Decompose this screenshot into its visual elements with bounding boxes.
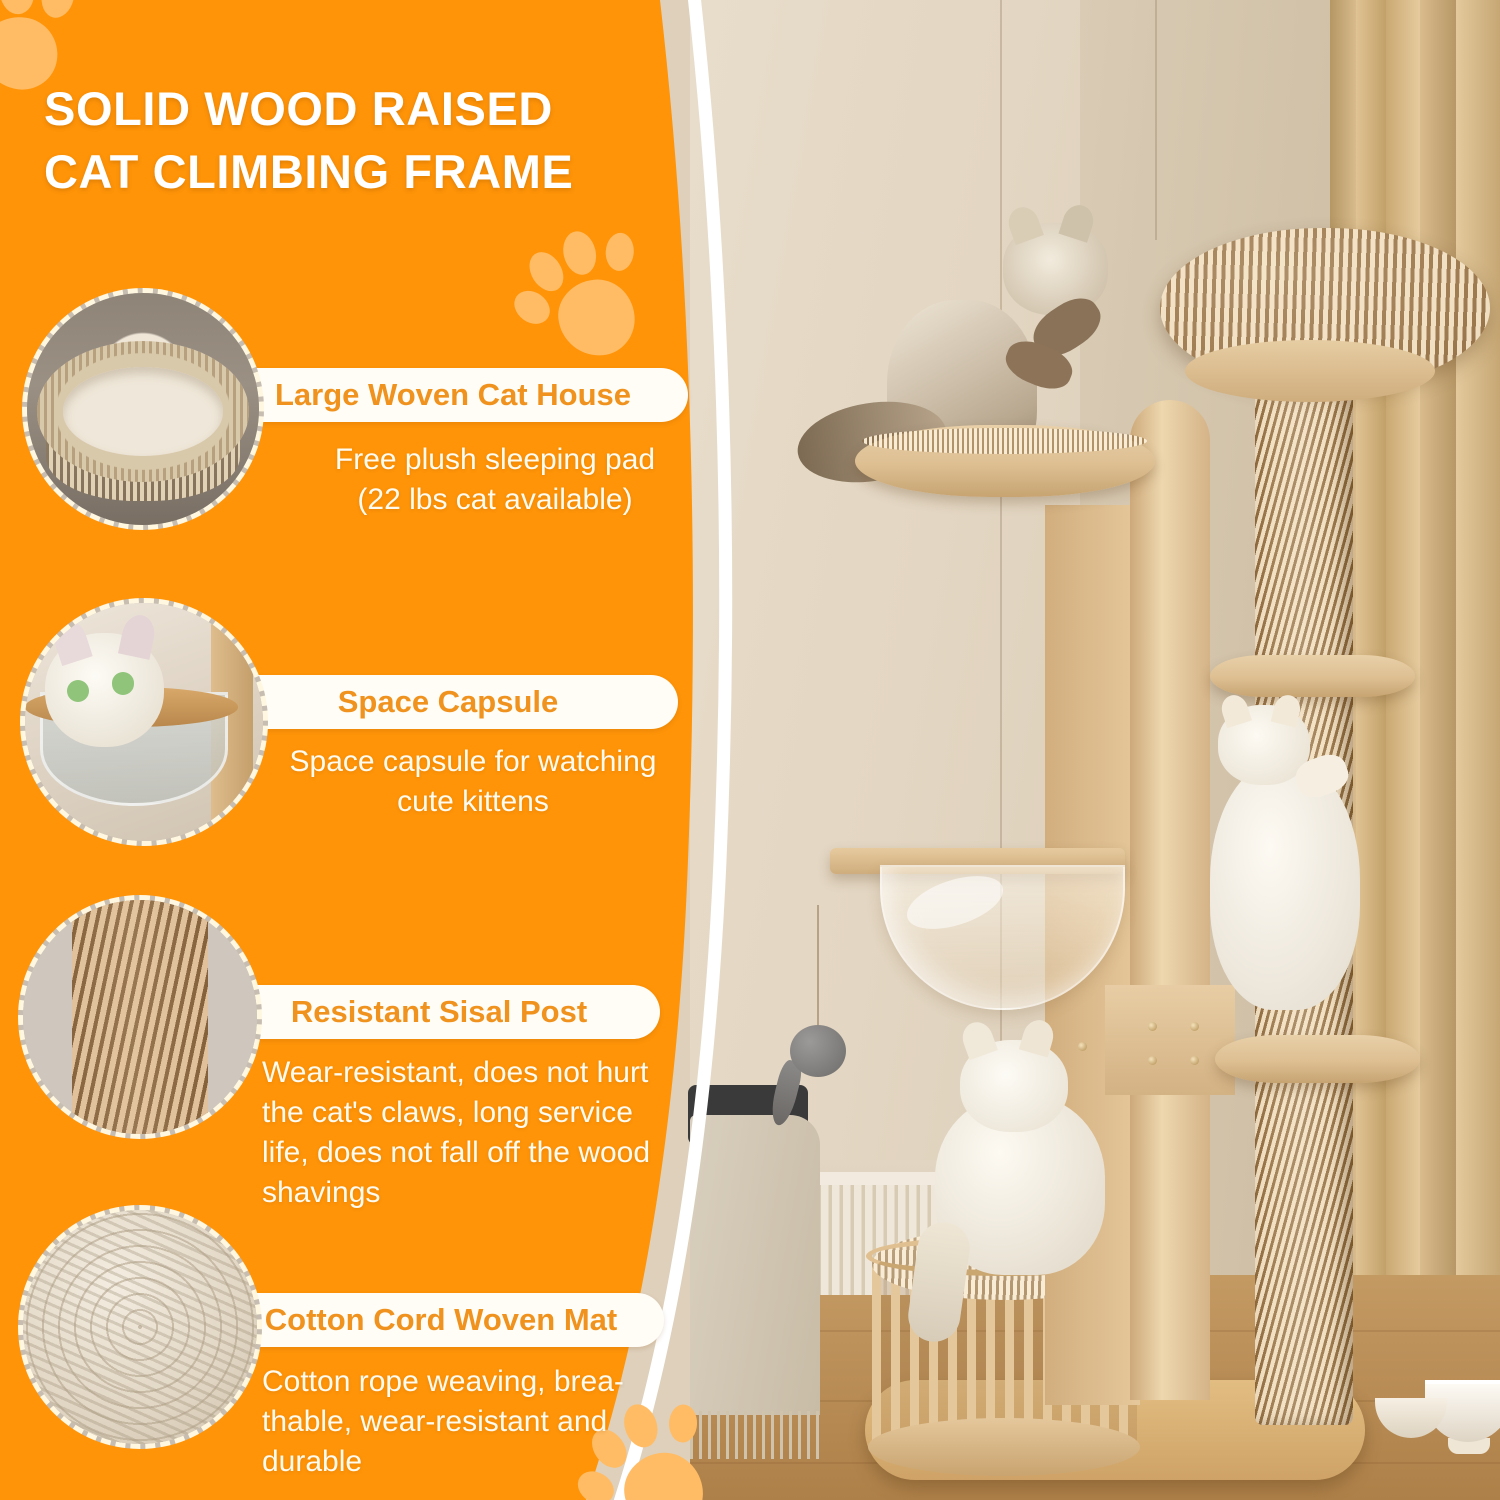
screw-icon xyxy=(1190,1056,1199,1065)
infographic-canvas: SOLID WOOD RAISED CAT CLIMBING FRAME Lar… xyxy=(0,0,1500,1500)
cat-climbing-post xyxy=(1200,705,1375,1035)
lower-platform-shelf xyxy=(1215,1035,1420,1083)
feature-title-pill-2[interactable]: Space Capsule xyxy=(236,675,678,729)
feature-title-pill-4[interactable]: Cotton Cord Woven Mat xyxy=(236,1293,664,1347)
feature-title-2: Space Capsule xyxy=(236,684,678,720)
paw-print-icon xyxy=(521,222,662,367)
title-line-1: SOLID WOOD RAISED xyxy=(44,78,684,141)
knit-throw-blanket xyxy=(690,1115,820,1415)
cat-on-stool xyxy=(905,1030,1155,1300)
middle-platform-shelf xyxy=(1210,655,1415,697)
feature-title-pill-1[interactable]: Large Woven Cat House xyxy=(236,368,688,422)
screw-icon xyxy=(1190,1022,1199,1031)
title-line-2: CAT CLIMBING FRAME xyxy=(44,141,684,204)
feature-desc-line: thable, wear-resistant and xyxy=(262,1402,682,1442)
feature-desc-3: Wear-resistant, does not hurt the cat's … xyxy=(262,1053,682,1213)
feature-desc-line: durable xyxy=(262,1442,682,1482)
woven-cat-bed-photo xyxy=(22,288,264,530)
feature-desc-line: shavings xyxy=(262,1173,682,1213)
feature-desc-line: the cat's claws, long service xyxy=(262,1093,682,1133)
feature-title-3: Resistant Sisal Post xyxy=(236,994,660,1030)
sisal-rope-post-photo xyxy=(18,895,262,1139)
cat-in-space-capsule-photo xyxy=(20,598,268,846)
top-shelf-woven-rim xyxy=(862,428,1147,454)
curtain xyxy=(1330,0,1500,1400)
feature-title-1: Large Woven Cat House xyxy=(236,377,688,413)
thumb-resistant-sisal-post[interactable] xyxy=(18,895,262,1139)
thumb-space-capsule[interactable] xyxy=(20,598,268,846)
toy-string xyxy=(817,905,819,1030)
feature-title-4: Cotton Cord Woven Mat xyxy=(236,1302,664,1338)
wall-seam xyxy=(1155,0,1157,240)
cotton-cord-mat-photo xyxy=(18,1205,262,1449)
feature-desc-line: life, does not fall off the wood xyxy=(262,1133,682,1173)
feature-title-pill-3[interactable]: Resistant Sisal Post xyxy=(236,985,660,1039)
feature-desc-4: Cotton rope weaving, brea- thable, wear-… xyxy=(262,1362,682,1482)
feature-desc-1: Free plush sleeping pad (22 lbs cat avai… xyxy=(300,440,690,520)
wall-seam xyxy=(1000,0,1002,1200)
page-title: SOLID WOOD RAISED CAT CLIMBING FRAME xyxy=(44,78,684,203)
dome-support-plate xyxy=(1185,340,1435,402)
feature-desc-line: Wear-resistant, does not hurt xyxy=(262,1053,682,1093)
thumb-large-woven-cat-house[interactable] xyxy=(22,288,264,530)
feature-desc-line: Free plush sleeping pad xyxy=(300,440,690,480)
stool-base-ring xyxy=(868,1418,1140,1476)
feature-desc-line: Space capsule for watching xyxy=(268,742,678,782)
thumb-cotton-cord-woven-mat[interactable] xyxy=(18,1205,262,1449)
feature-desc-line: Cotton rope weaving, brea- xyxy=(262,1362,682,1402)
hanging-pom-pom-toy xyxy=(790,1025,846,1077)
feature-desc-line: (22 lbs cat available) xyxy=(300,480,690,520)
feature-desc-line: cute kittens xyxy=(268,782,678,822)
feature-desc-2: Space capsule for watching cute kittens xyxy=(268,742,678,822)
